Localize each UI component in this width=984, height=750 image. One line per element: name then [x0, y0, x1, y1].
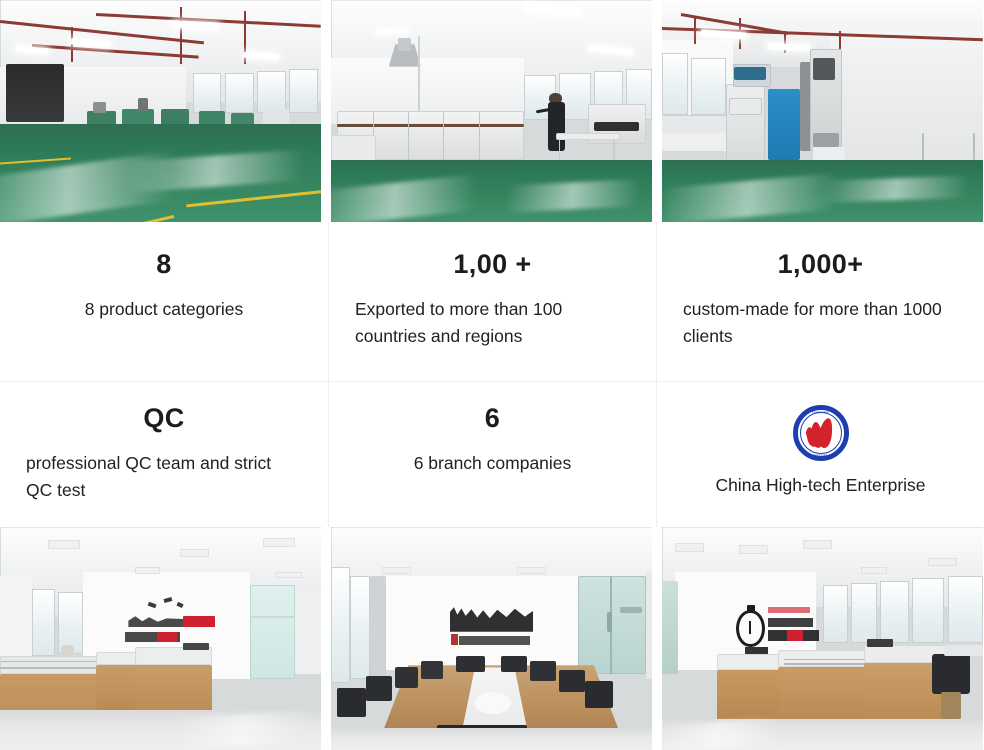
stat-label: Exported to more than 100 countries and … — [355, 296, 630, 350]
photo-reflow-line-workshop[interactable] — [331, 0, 652, 222]
photo-workshop-production-floor[interactable] — [0, 0, 321, 222]
photo-open-plan-office[interactable] — [0, 527, 321, 750]
stat-cell-export-countries: 1,00 + Exported to more than 100 countri… — [328, 222, 656, 381]
stat-value: 6 — [485, 404, 500, 434]
china-high-tech-enterprise-logo-icon: •••••••••• •••••••• — [793, 405, 849, 461]
stat-cell-high-tech-enterprise: •••••••••• •••••••• China High-tech Ente… — [656, 381, 984, 527]
top-photo-row — [0, 0, 984, 222]
stat-value: 8 — [156, 250, 171, 280]
photo-office-workstations[interactable] — [662, 527, 983, 750]
stat-value: QC — [143, 404, 184, 434]
stats-section: 8 8 product categories 1,00 + Exported t… — [0, 222, 984, 527]
photo-conference-room[interactable] — [331, 527, 652, 750]
badge-wrapper: •••••••••• •••••••• — [793, 404, 849, 462]
stat-label: custom-made for more than 1000 clients — [683, 296, 958, 350]
photo-testing-equipment-room[interactable] — [662, 0, 983, 222]
stat-label: China High-tech Enterprise — [715, 472, 925, 499]
stat-cell-qc-team: QC professional QC team and strict QC te… — [0, 381, 328, 527]
stat-cell-product-categories: 8 8 product categories — [0, 222, 328, 381]
stat-label: professional QC team and strict QC test — [26, 450, 302, 504]
capability-overview-page: 8 8 product categories 1,00 + Exported t… — [0, 0, 984, 750]
stat-label: 8 product categories — [85, 296, 244, 323]
stat-cell-custom-clients: 1,000+ custom-made for more than 1000 cl… — [656, 222, 984, 381]
stat-value: 1,00 + — [453, 250, 531, 280]
stat-cell-branch-companies: 6 6 branch companies — [328, 381, 656, 527]
stat-label: 6 branch companies — [414, 450, 572, 477]
stat-value: 1,000+ — [778, 250, 864, 280]
bottom-photo-row — [0, 527, 984, 750]
